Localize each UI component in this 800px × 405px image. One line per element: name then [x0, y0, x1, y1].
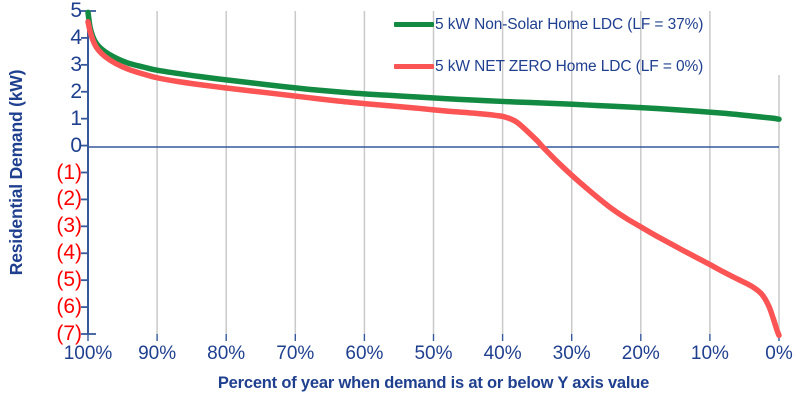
x-tick-label: 40% [463, 343, 543, 365]
x-tick-label: 90% [117, 343, 197, 365]
x-tick-label: 0% [739, 343, 800, 365]
x-tick-label: 50% [394, 343, 474, 365]
legend-label-non-solar: 5 kW Non-Solar Home LDC (LF = 37%) [435, 16, 703, 34]
x-tick-label: 60% [324, 343, 404, 365]
x-tick-label: 30% [532, 343, 612, 365]
legend-item-net-zero: 5 kW NET ZERO Home LDC (LF = 0%) [394, 55, 703, 78]
x-tick-label: 100% [48, 343, 128, 365]
load-duration-curve-chart: Residential Demand (kW) 543210(1)(2)(3)(… [0, 0, 800, 405]
legend-label-net-zero: 5 kW NET ZERO Home LDC (LF = 0%) [435, 58, 703, 76]
legend-item-non-solar: 5 kW Non-Solar Home LDC (LF = 37%) [394, 13, 703, 36]
legend-swatch-non-solar [394, 22, 434, 27]
chart-legend: 5 kW Non-Solar Home LDC (LF = 37%) 5 kW … [394, 13, 703, 97]
x-tick-label: 20% [601, 343, 681, 365]
x-tick-label: 70% [255, 343, 335, 365]
x-axis-title: Percent of year when demand is at or bel… [88, 374, 779, 393]
x-tick-label: 80% [186, 343, 266, 365]
legend-swatch-net-zero [394, 64, 434, 69]
x-tick-label: 10% [670, 343, 750, 365]
